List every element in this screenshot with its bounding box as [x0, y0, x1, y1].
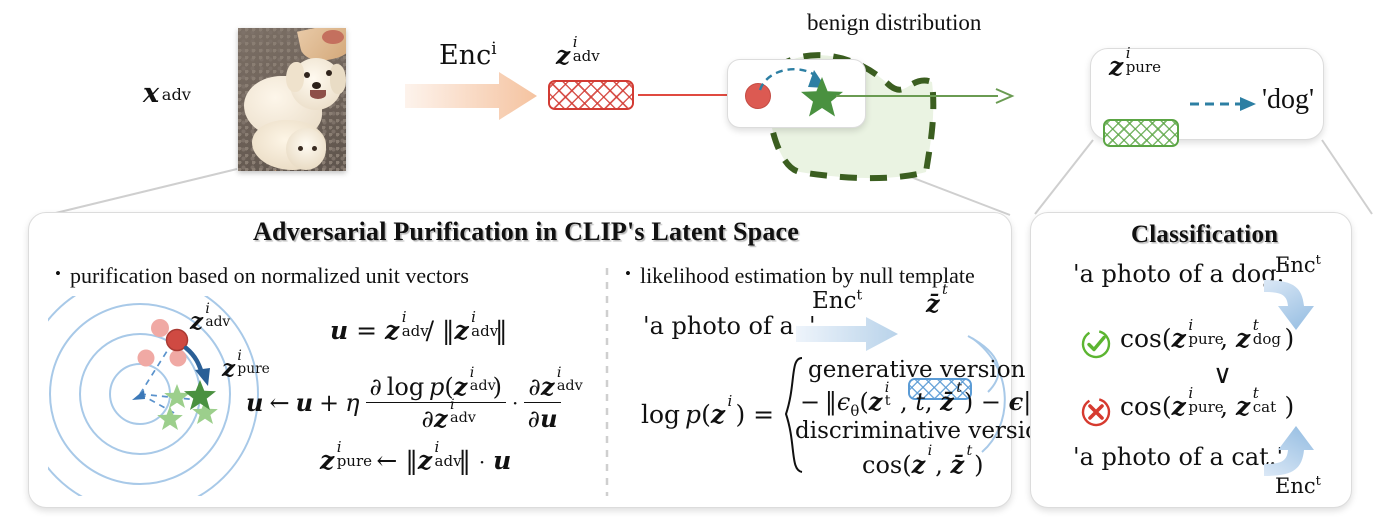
case-generative-expression: − ‖ϵθ(zit , t, z̄t ) − ϵ‖ 2 2: [800, 387, 1054, 416]
or-symbol: ∨: [1213, 360, 1232, 390]
prediction-arrow-icon: [1190, 94, 1262, 114]
score-cat-expression: cos(zipure , ztcat ): [1120, 392, 1294, 421]
case-generative-label: generative version: [808, 357, 1025, 383]
classification-panel-title: Classification: [1131, 221, 1278, 249]
pure-latent-label: zipure: [1109, 52, 1126, 81]
equation-rescale: zipure ← ‖ziadv ‖ · u: [320, 446, 511, 475]
figure-canvas: xadv Enci: [0, 0, 1380, 519]
unit-sphere-diagram: [48, 296, 278, 496]
equation-unit-vector: u = ziadv / ‖ziadv ‖: [330, 316, 508, 345]
case-discriminative-label: discriminative version: [795, 418, 1054, 444]
null-template-text: 'a photo of a .': [643, 312, 816, 340]
prediction-text: 'dog': [1262, 84, 1314, 116]
image-encoder-label: Enci: [439, 40, 497, 71]
bullet-purification: • purification based on normalized unit …: [55, 263, 469, 289]
score-dog-expression: cos(zipure , ztdog ): [1120, 324, 1294, 353]
encoder-arrow-icon: [403, 68, 543, 124]
cross-circle-icon: [1080, 396, 1112, 428]
bullet-icon-2: •: [625, 263, 631, 282]
text-encoder-arrow-icon: [794, 315, 902, 353]
bullet-likelihood: • likelihood estimation by null template: [625, 263, 975, 289]
adv-latent-label: ziadv: [556, 41, 573, 70]
benign-distribution-label: benign distribution: [807, 10, 981, 36]
prompt-dog-text: 'a photo of a dog.': [1073, 260, 1291, 288]
text-latent-label: z̄t: [926, 289, 942, 318]
equation-gradient-update: u ← u + η ∂ log p(ziadv ) ∂ziadv · ∂ziad…: [246, 372, 561, 433]
log-likelihood-lhs: log p(zi ) =: [641, 400, 774, 429]
input-label: xadv: [143, 78, 162, 109]
check-circle-icon: [1080, 328, 1112, 360]
case-discriminative-expression: cos(zi , z̄t ): [862, 450, 984, 479]
cases-brace: [782, 356, 808, 476]
pure-flow-arrow: [836, 84, 1016, 108]
bullet-purification-label: purification based on normalized unit ve…: [70, 263, 469, 289]
diagram-pure-label: zipure: [222, 355, 237, 382]
purification-panel-title: Adversarial Purification in CLIP's Laten…: [253, 217, 799, 247]
text-encoder-label: Enct: [812, 288, 862, 314]
input-image: [238, 28, 346, 171]
bullet-likelihood-label: likelihood estimation by null template: [640, 263, 975, 289]
diagram-adv-label: ziadv: [190, 308, 205, 335]
pure-latent-vector-box: [1103, 119, 1179, 147]
bullet-icon: •: [55, 263, 61, 282]
classification-encoder-label-bottom: Enct: [1275, 474, 1321, 498]
prompt-cat-text: 'a photo of a cat.': [1073, 443, 1283, 471]
panel-divider: [604, 268, 610, 496]
adv-latent-vector-box: [548, 80, 634, 110]
classification-encoder-label-top: Enct: [1275, 253, 1321, 277]
